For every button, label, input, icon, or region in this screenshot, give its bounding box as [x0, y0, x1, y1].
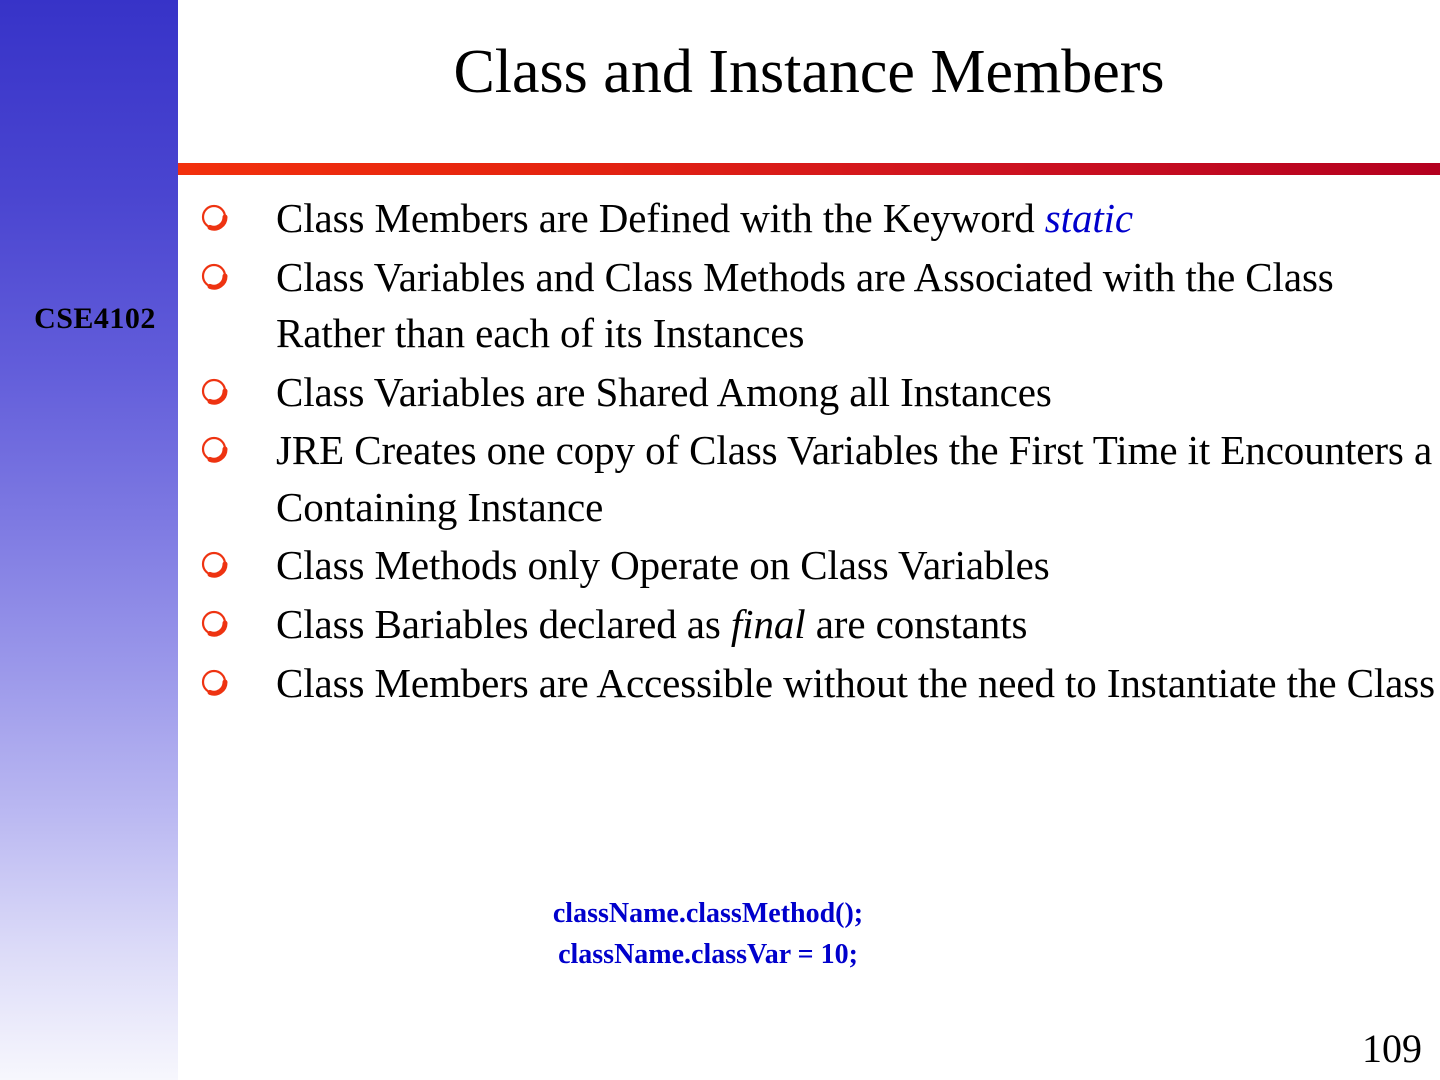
bullet-list: Class Members are Defined with the Keywo… [196, 190, 1436, 713]
bullet-text: JRE Creates one copy of Class Variables … [276, 427, 1432, 530]
title-divider-rule [178, 163, 1440, 175]
ring-bullet-icon [200, 376, 230, 406]
bullet-item: JRE Creates one copy of Class Variables … [196, 422, 1436, 535]
bullet-text-run: Class Members are Accessible without the… [276, 660, 1435, 706]
bullet-item: Class Members are Defined with the Keywo… [196, 190, 1436, 247]
course-code-label: CSE4102 [0, 302, 190, 336]
bullet-text: Class Variables and Class Methods are As… [276, 254, 1334, 357]
ring-bullet-icon [200, 608, 230, 638]
bullet-text: Class Variables are Shared Among all Ins… [276, 369, 1052, 415]
ring-bullet-icon [200, 667, 230, 697]
sidebar-gradient-band: CSE4102 [0, 0, 178, 1080]
code-snippet: className.classMethod();className.classV… [178, 893, 1238, 976]
bullet-text: Class Bariables declared as final are co… [276, 601, 1027, 647]
keyword-static: static [1045, 195, 1133, 241]
bullet-text-run: Class Variables and Class Methods are As… [276, 254, 1334, 357]
bullet-item: Class Variables are Shared Among all Ins… [196, 364, 1436, 421]
page-title: Class and Instance Members [178, 40, 1440, 105]
bullet-text-run: are constants [806, 601, 1028, 647]
bullet-text: Class Members are Accessible without the… [276, 660, 1435, 706]
bullet-text-run: Class Methods only Operate on Class Vari… [276, 542, 1050, 588]
code-line: className.classMethod(); [178, 893, 1238, 934]
slide-canvas: CSE4102 Class and Instance Members Class… [0, 0, 1440, 1080]
ring-bullet-icon [200, 434, 230, 464]
bullet-text-run: Class Variables are Shared Among all Ins… [276, 369, 1052, 415]
bullet-item: Class Members are Accessible without the… [196, 655, 1436, 712]
bullet-item: Class Variables and Class Methods are As… [196, 249, 1436, 362]
bullet-text: Class Members are Defined with the Keywo… [276, 195, 1133, 241]
bullet-text-run: Class Bariables declared as [276, 601, 731, 647]
ring-bullet-icon [200, 261, 230, 291]
code-line: className.classVar = 10; [178, 934, 1238, 975]
ring-bullet-icon [200, 202, 230, 232]
bullet-text-run: JRE Creates one copy of Class Variables … [276, 427, 1432, 530]
bullet-text: Class Methods only Operate on Class Vari… [276, 542, 1050, 588]
bullet-text-run: Class Members are Defined with the Keywo… [276, 195, 1045, 241]
bullet-item: Class Bariables declared as final are co… [196, 596, 1436, 653]
bullet-item: Class Methods only Operate on Class Vari… [196, 537, 1436, 594]
ring-bullet-icon [200, 549, 230, 579]
page-number: 109 [1362, 1025, 1422, 1072]
keyword-final: final [731, 601, 806, 647]
